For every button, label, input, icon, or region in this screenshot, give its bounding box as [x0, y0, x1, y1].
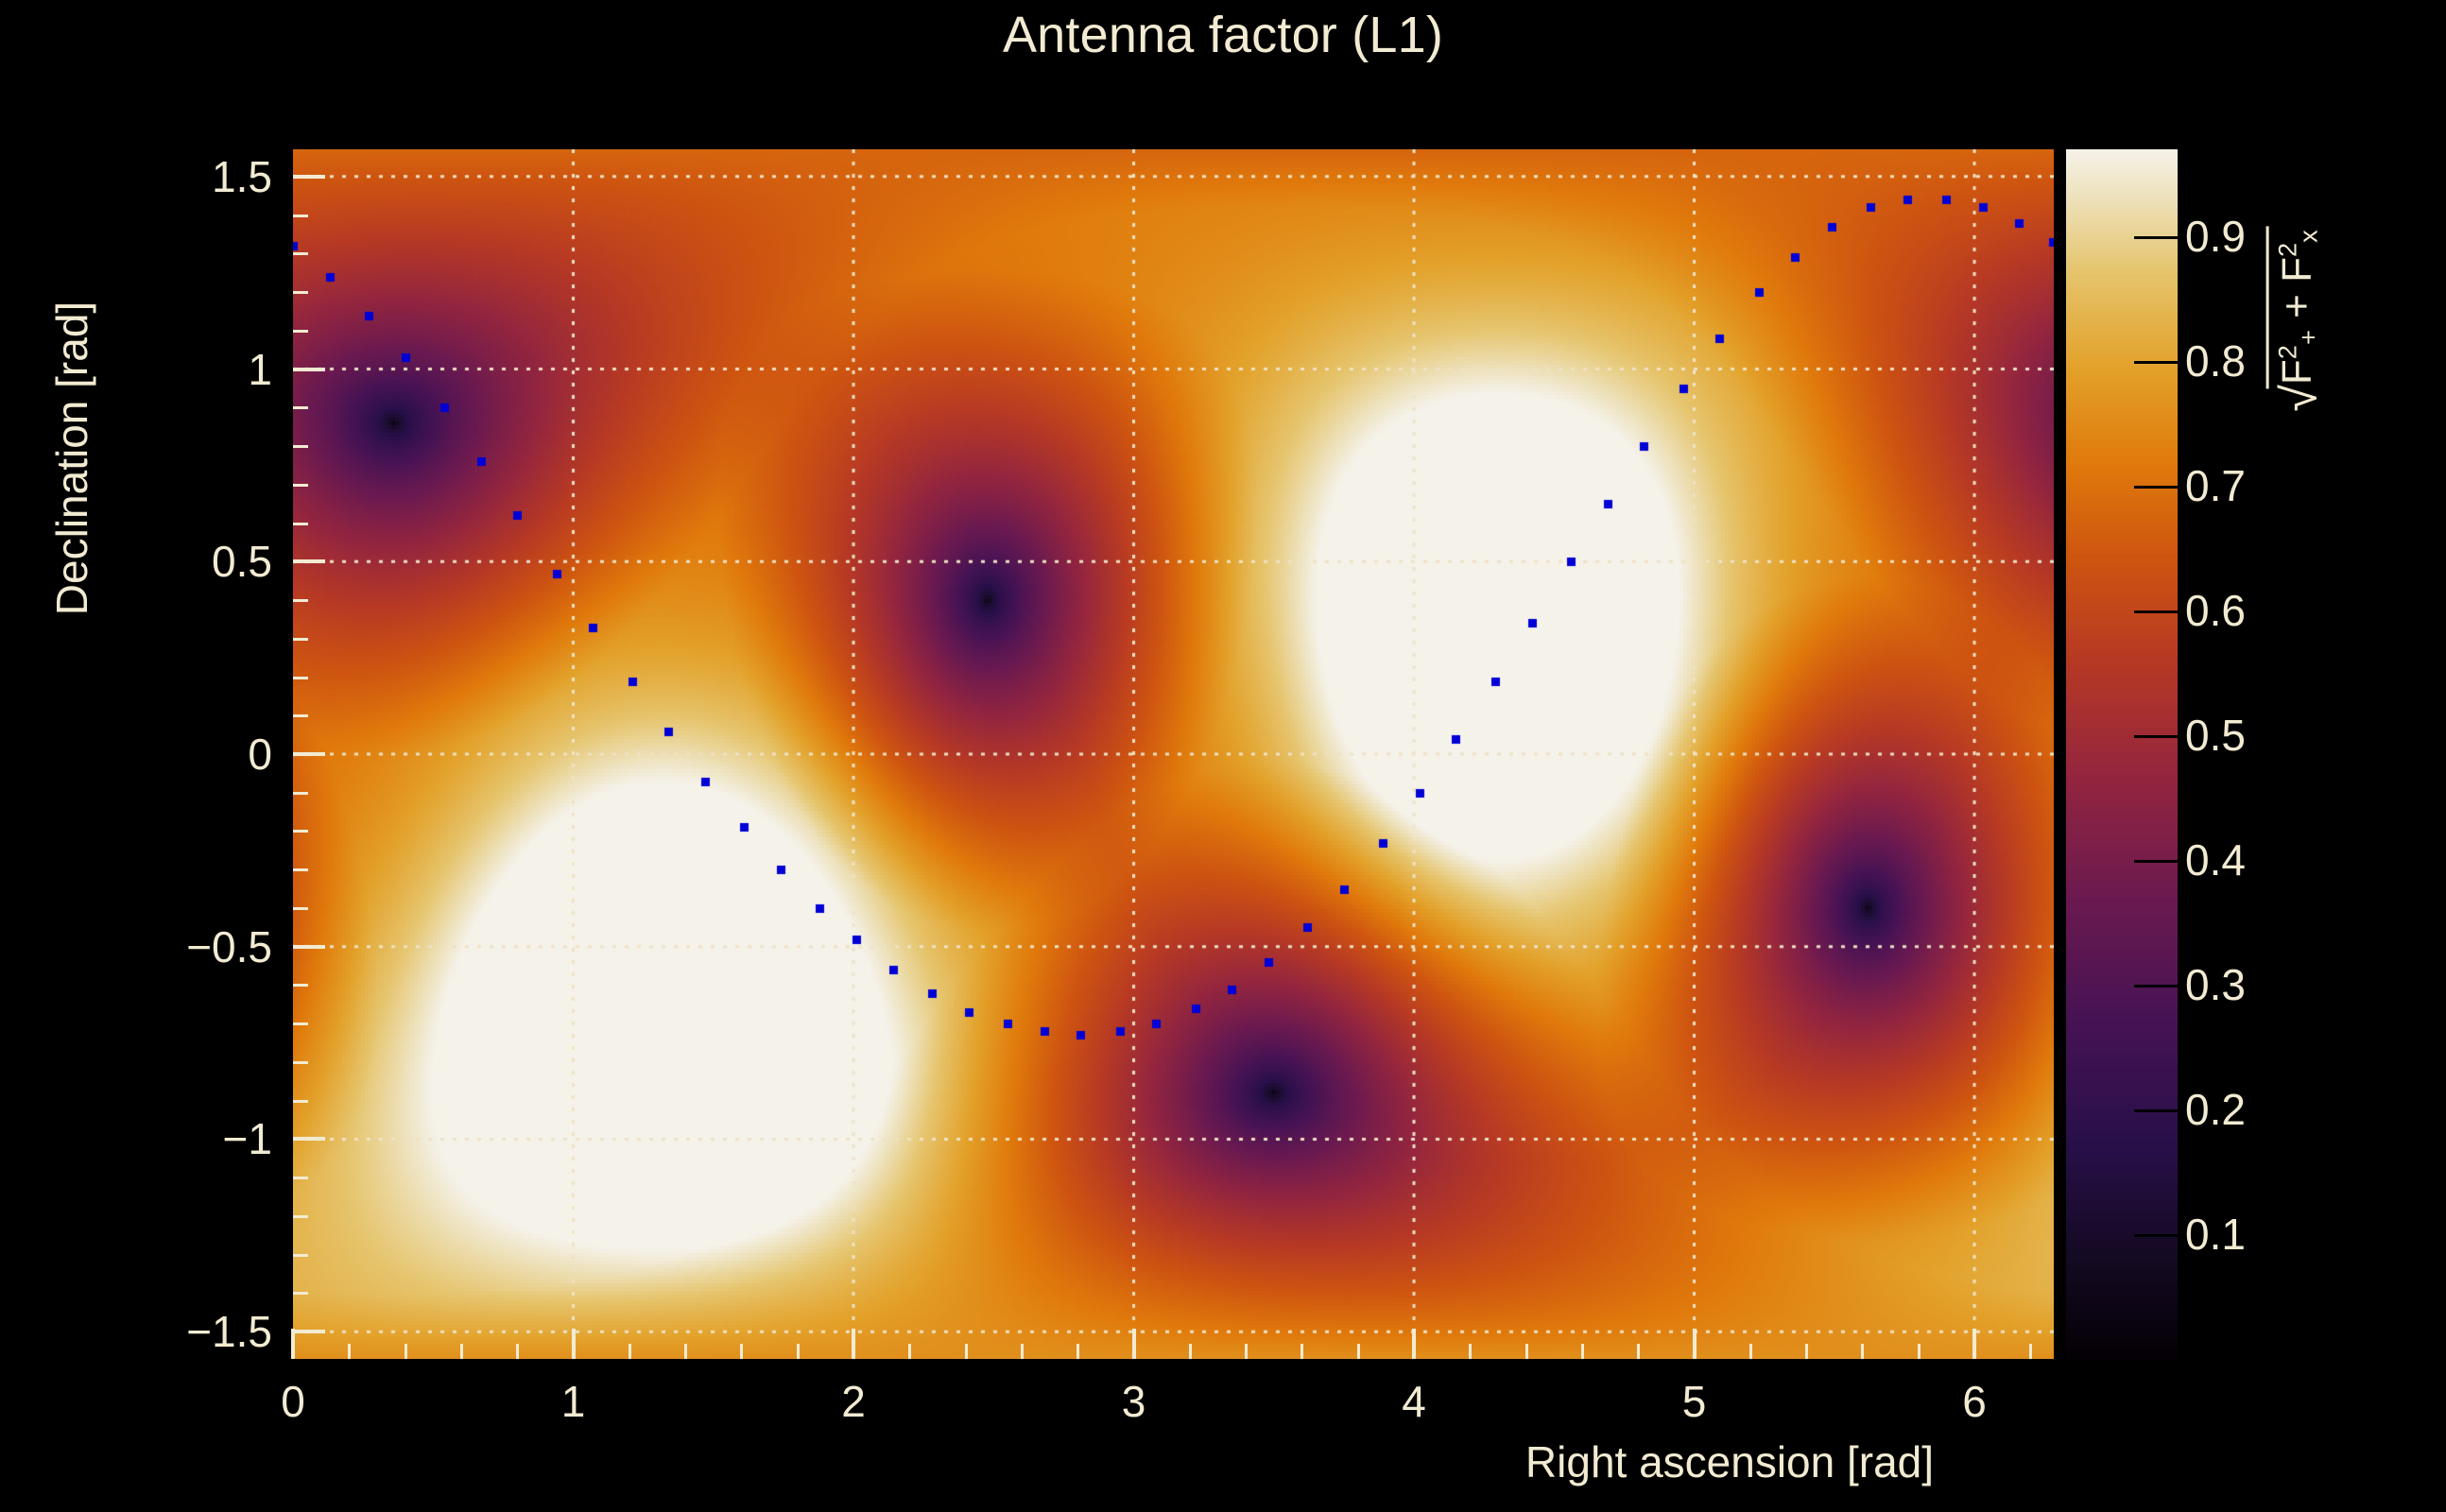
x-tick-label: 5: [1682, 1376, 1707, 1427]
y-tick-label: −1: [223, 1113, 272, 1164]
y-axis-title: Declination [rad]: [43, 149, 100, 1359]
x-minor-tick: [1021, 1344, 1024, 1359]
y-minor-tick: [293, 984, 308, 987]
colorbar-tick-label: 0.1: [2185, 1209, 2246, 1260]
y-minor-tick: [293, 830, 308, 833]
y-minor-tick: [293, 523, 308, 525]
x-tick-label: 6: [1962, 1376, 1987, 1427]
colorbar-title-expression: √F2+ + F2x: [2266, 151, 2324, 491]
y-minor-tick: [293, 445, 308, 448]
y-major-tick: [293, 559, 325, 563]
x-minor-tick: [1525, 1344, 1528, 1359]
colorbar-tick: [2134, 860, 2178, 863]
colorbar: [2066, 149, 2178, 1359]
colorbar-tick-label: 0.8: [2185, 335, 2246, 387]
x-minor-tick: [629, 1344, 631, 1359]
y-minor-tick: [293, 291, 308, 294]
x-minor-tick: [348, 1344, 351, 1359]
f-plus-base: F: [2274, 359, 2320, 385]
y-tick-label: 0: [248, 729, 272, 780]
x-minor-tick: [1749, 1344, 1752, 1359]
x-minor-tick: [2029, 1344, 2032, 1359]
x-tick-label: 2: [841, 1376, 866, 1427]
grid-and-source-track-overlay: [293, 149, 2054, 1359]
x-minor-tick: [1861, 1344, 1864, 1359]
x-major-tick: [1412, 1329, 1416, 1359]
y-minor-tick: [293, 1177, 308, 1179]
f-plus-subscript: +: [2293, 330, 2322, 345]
y-minor-tick: [293, 484, 308, 487]
y-tick-label: 0.5: [212, 536, 272, 587]
x-minor-tick: [1805, 1344, 1808, 1359]
y-minor-tick: [293, 330, 308, 333]
x-minor-tick: [1637, 1344, 1640, 1359]
heatmap-plot-area: [293, 149, 2054, 1359]
plus-operator: +: [2274, 294, 2320, 318]
plot-title: Antenna factor (L1): [0, 6, 2446, 64]
y-major-tick: [293, 1330, 325, 1333]
x-tick-label: 3: [1122, 1376, 1146, 1427]
colorbar-gradient: [2066, 149, 2178, 1359]
colorbar-tick: [2134, 361, 2178, 364]
colorbar-tick: [2134, 1234, 2178, 1237]
f-plus-exponent: 2: [2273, 345, 2302, 359]
x-major-tick: [1693, 1329, 1697, 1359]
y-minor-tick: [293, 792, 308, 795]
x-minor-tick: [405, 1344, 407, 1359]
colorbar-tick: [2134, 486, 2178, 489]
y-tick-label: −1.5: [186, 1306, 272, 1357]
colorbar-tick: [2134, 1109, 2178, 1112]
f-cross-base: F: [2274, 257, 2320, 283]
f-cross-exponent: 2: [2273, 243, 2302, 257]
x-tick-label: 0: [281, 1376, 305, 1427]
y-major-tick: [293, 945, 325, 949]
x-major-tick: [1132, 1329, 1136, 1359]
colorbar-tick-label: 0.6: [2185, 585, 2246, 636]
colorbar-tick-label: 0.7: [2185, 460, 2246, 511]
x-minor-tick: [1469, 1344, 1472, 1359]
y-minor-tick: [293, 1022, 308, 1025]
y-minor-tick: [293, 1100, 308, 1103]
x-major-tick: [291, 1329, 295, 1359]
colorbar-tick-label: 0.5: [2185, 710, 2246, 761]
colorbar-tick: [2134, 985, 2178, 988]
y-minor-tick: [293, 714, 308, 717]
x-major-tick: [572, 1329, 576, 1359]
x-minor-tick: [1918, 1344, 1921, 1359]
x-minor-tick: [797, 1344, 800, 1359]
x-minor-tick: [684, 1344, 687, 1359]
colorbar-tick-label: 0.3: [2185, 959, 2246, 1010]
x-minor-tick: [460, 1344, 463, 1359]
y-minor-tick: [293, 638, 308, 641]
x-minor-tick: [740, 1344, 743, 1359]
y-major-tick: [293, 368, 325, 371]
y-minor-tick: [293, 215, 308, 217]
y-major-tick: [293, 1137, 325, 1141]
y-major-tick: [293, 175, 325, 179]
colorbar-title: √F2+ + F2x: [2266, 123, 2323, 520]
colorbar-tick-label: 0.2: [2185, 1084, 2246, 1135]
y-tick-label: 1: [248, 344, 272, 395]
y-minor-tick: [293, 1292, 308, 1295]
x-minor-tick: [1189, 1344, 1192, 1359]
f-cross-subscript: x: [2293, 230, 2322, 243]
x-tick-label: 1: [561, 1376, 586, 1427]
colorbar-tick: [2134, 735, 2178, 738]
x-minor-tick: [516, 1344, 519, 1359]
x-tick-label: 4: [1402, 1376, 1426, 1427]
y-minor-tick: [293, 252, 308, 255]
x-minor-tick: [1357, 1344, 1360, 1359]
y-minor-tick: [293, 1215, 308, 1218]
x-major-tick: [1972, 1329, 1976, 1359]
x-minor-tick: [1301, 1344, 1303, 1359]
radical-sign: √: [2282, 385, 2321, 412]
x-minor-tick: [1581, 1344, 1584, 1359]
x-minor-tick: [908, 1344, 911, 1359]
y-minor-tick: [293, 406, 308, 409]
figure-canvas: Antenna factor (L1) Declination [rad] −1…: [0, 0, 2446, 1512]
y-axis-title-label: Declination [rad]: [46, 301, 97, 615]
colorbar-tick-label: 0.9: [2185, 211, 2246, 262]
x-major-tick: [852, 1329, 855, 1359]
x-minor-tick: [1245, 1344, 1248, 1359]
x-minor-tick: [1077, 1344, 1079, 1359]
y-minor-tick: [293, 599, 308, 602]
x-axis-title: Right ascension [rad]: [1370, 1436, 2089, 1487]
y-minor-tick: [293, 1061, 308, 1064]
y-tick-label: −0.5: [186, 921, 272, 972]
y-minor-tick: [293, 868, 308, 871]
y-major-tick: [293, 752, 325, 756]
y-minor-tick: [293, 677, 308, 679]
colorbar-tick: [2134, 236, 2178, 239]
y-minor-tick: [293, 907, 308, 910]
colorbar-tick-label: 0.4: [2185, 834, 2246, 885]
y-minor-tick: [293, 1254, 308, 1257]
y-tick-label: 1.5: [212, 151, 272, 202]
x-minor-tick: [965, 1344, 968, 1359]
colorbar-tick: [2134, 610, 2178, 613]
